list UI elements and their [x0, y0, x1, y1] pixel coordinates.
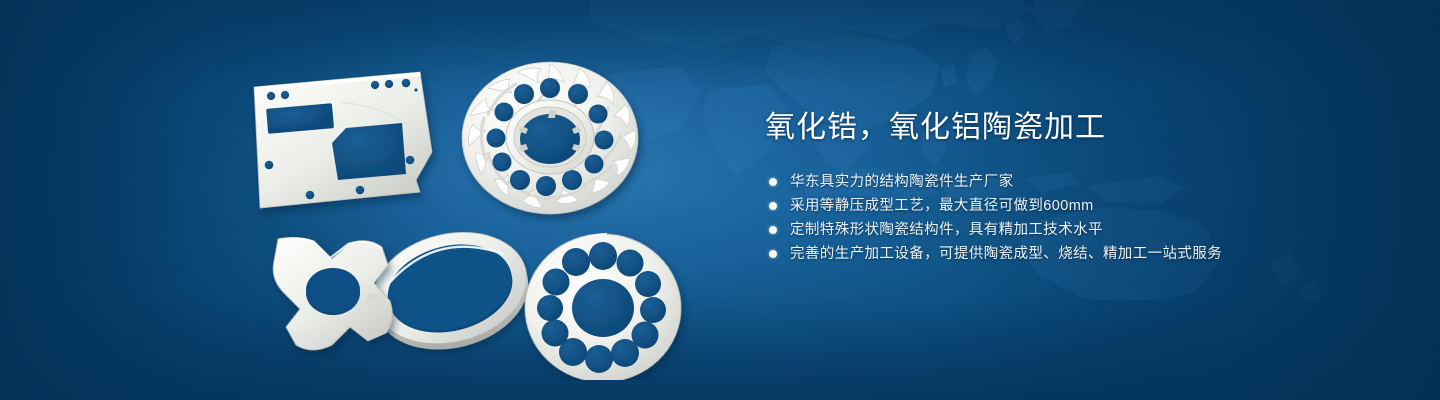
feature-list: 华东具实力的结构陶瓷件生产厂家 采用等静压成型工艺，最大直径可做到600mm 定… [765, 170, 1385, 266]
ceramic-impeller-disc [462, 62, 638, 214]
ceramic-cross-plate [273, 237, 392, 350]
bullet-dot-icon [769, 226, 777, 234]
feature-text: 采用等静压成型工艺，最大直径可做到600mm [790, 196, 1094, 216]
ceramic-perforated-disc [525, 234, 681, 380]
ceramic-products-image [220, 40, 720, 380]
bullet-dot-icon [769, 178, 777, 186]
banner-copy: 氧化锆，氧化铝陶瓷加工 华东具实力的结构陶瓷件生产厂家 采用等静压成型工艺，最大… [765, 106, 1385, 266]
feature-text: 完善的生产加工设备，可提供陶瓷成型、烧结、精加工一站式服务 [790, 244, 1222, 264]
list-item: 华东具实力的结构陶瓷件生产厂家 [769, 170, 1385, 194]
hero-banner: 氧化锆，氧化铝陶瓷加工 华东具实力的结构陶瓷件生产厂家 采用等静压成型工艺，最大… [0, 0, 1440, 400]
list-item: 定制特殊形状陶瓷结构件，具有精加工技术水平 [769, 218, 1385, 242]
feature-text: 定制特殊形状陶瓷结构件，具有精加工技术水平 [790, 220, 1103, 240]
ceramic-rectangular-plate [254, 72, 432, 208]
bullet-dot-icon [769, 250, 777, 258]
ceramic-ring [361, 217, 540, 365]
feature-text: 华东具实力的结构陶瓷件生产厂家 [790, 172, 1014, 192]
list-item: 完善的生产加工设备，可提供陶瓷成型、烧结、精加工一站式服务 [769, 242, 1385, 266]
bullet-dot-icon [769, 202, 777, 210]
banner-headline: 氧化锆，氧化铝陶瓷加工 [765, 106, 1385, 150]
list-item: 采用等静压成型工艺，最大直径可做到600mm [769, 194, 1385, 218]
